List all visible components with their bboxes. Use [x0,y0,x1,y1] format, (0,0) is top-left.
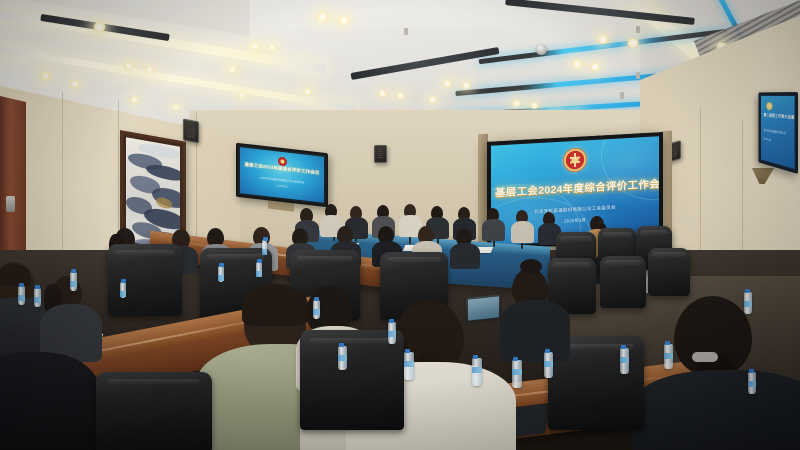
sprinkler-head [404,28,408,35]
water-bottle[interactable] [262,240,267,253]
downlight [238,92,246,98]
auxiliary-monitor-screen: 基层工会2024年度综合评价工作会议 北京天虹高速股份有限公司工会委员会 202… [240,147,324,203]
downlight [590,63,600,71]
downlight [70,80,80,88]
wall-speaker-left [183,118,199,143]
right-banner-surface: 第二届职工代表大会第二次会议 北京天虹高速股份有限公司 2025年3月 [761,96,795,169]
screen-meeting-title: 基层工会2024年度综合评价工作会议 [495,177,655,201]
downlight [597,34,609,44]
downlight [40,72,51,80]
downlight [428,96,437,103]
downlight [303,88,312,95]
water-bottle[interactable] [338,346,347,370]
water-bottle[interactable] [120,282,126,298]
downlight [378,90,387,97]
water-bottle[interactable] [620,348,629,374]
downlight [93,22,106,32]
water-bottle[interactable] [664,344,673,369]
conference-chair[interactable] [300,330,404,430]
water-bottle[interactable] [388,322,396,344]
conference-room-photo: 基层工会2024年度综合评价工作会议 北京天虹高速股份有限公司工会委员会 202… [0,0,800,450]
sprinkler-head [636,72,640,79]
downlight [462,82,471,89]
conference-chair[interactable] [108,244,182,316]
downlight [396,92,405,99]
downlight [145,66,154,73]
laptop-screen [468,296,499,320]
downlight [228,66,237,73]
conference-chair[interactable] [600,256,646,308]
banner-line-1: 第二届职工代表大会第二次会议 [764,113,792,121]
downlight [530,102,539,109]
water-bottle[interactable] [744,292,752,314]
water-bottle[interactable] [544,352,553,378]
door-handle[interactable] [6,196,15,212]
wall-speaker-center [374,145,387,163]
downlight [172,104,180,110]
downlight [316,12,329,22]
water-bottle[interactable] [256,262,262,277]
trade-union-emblem-icon [563,147,587,172]
water-bottle[interactable] [218,266,224,282]
water-bottle[interactable] [34,288,41,307]
right-banner-screen[interactable]: 第二届职工代表大会第二次会议 北京天虹高速股份有限公司 2025年3月 [759,92,798,174]
downlight [124,62,134,70]
downlight [268,44,277,51]
auxiliary-monitor[interactable]: 基层工会2024年度综合评价工作会议 北京天虹高速股份有限公司工会委员会 202… [236,143,328,207]
water-bottle[interactable] [748,372,756,394]
laptop[interactable] [466,294,500,322]
national-emblem-icon [766,102,772,110]
banner-line-3: 2025年3月 [764,136,792,145]
hair-tie [692,352,718,362]
water-bottle[interactable] [313,300,320,319]
water-bottle[interactable] [70,272,77,291]
conference-chair[interactable] [648,248,690,296]
banner-line-2: 北京天虹高速股份有限公司 [764,128,792,136]
ceiling-dome-camera [536,44,547,55]
sprinkler-head [636,26,640,33]
downlight [512,100,521,107]
water-bottle[interactable] [472,358,482,386]
downlight [443,80,452,87]
water-bottle[interactable] [404,352,414,380]
downlight [627,38,639,48]
downlight [572,60,583,68]
water-bottle[interactable] [512,360,522,388]
downlight [250,42,260,50]
downlight [338,16,350,25]
downlight [130,96,139,103]
water-bottle[interactable] [18,286,25,305]
sprinkler-head [620,92,624,99]
